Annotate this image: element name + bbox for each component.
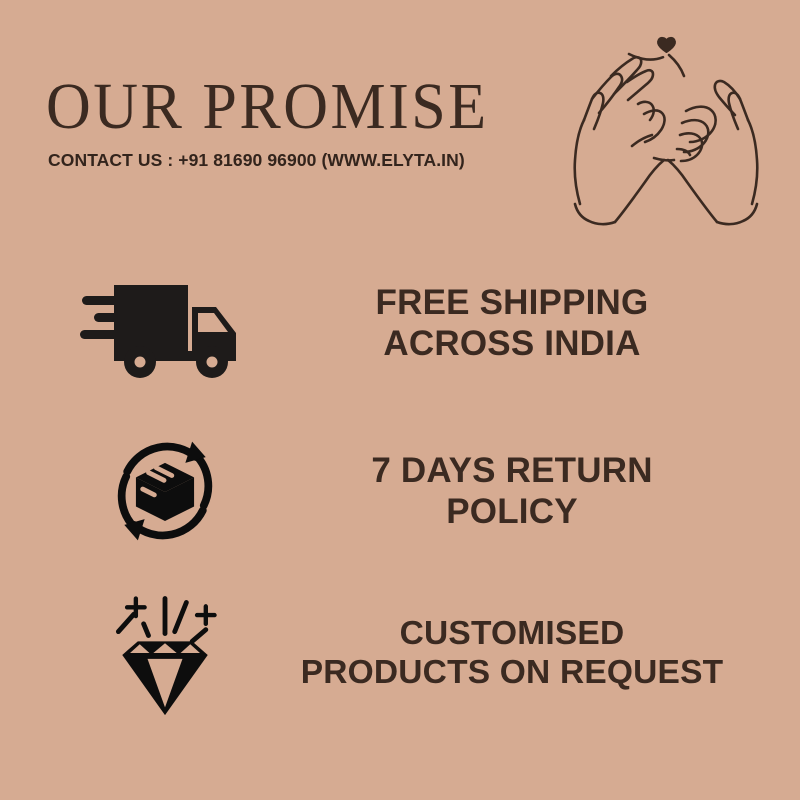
feature-label-line1: CUSTOMISED — [400, 615, 625, 652]
promise-feature-list: FREE SHIPPING ACROSS INDIA — [0, 240, 800, 800]
return-box-arrows-icon — [75, 416, 255, 566]
feature-row: CUSTOMISED PRODUCTS ON REQUEST — [0, 570, 800, 735]
feature-row: FREE SHIPPING ACROSS INDIA — [0, 240, 800, 405]
delivery-truck-icon — [75, 248, 255, 398]
header-text-block: OUR PROMISE CONTACT US : +91 81690 96900… — [46, 72, 546, 171]
promo-header: OUR PROMISE CONTACT US : +91 81690 96900… — [0, 0, 800, 240]
feature-label-line1: 7 DAYS RETURN — [371, 451, 652, 490]
feature-label: CUSTOMISED PRODUCTS ON REQUEST — [262, 614, 762, 692]
feature-label: FREE SHIPPING ACROSS INDIA — [262, 282, 762, 364]
sparkling-diamond-icon — [75, 578, 255, 728]
feature-label-line2: POLICY — [262, 491, 762, 532]
feature-label-line2: ACROSS INDIA — [262, 323, 762, 364]
feature-label: 7 DAYS RETURN POLICY — [262, 450, 762, 532]
feature-label-line1: FREE SHIPPING — [376, 283, 649, 322]
contact-info: CONTACT US : +91 81690 96900 (WWW.ELYTA.… — [48, 150, 546, 171]
our-promise-promo-card: OUR PROMISE CONTACT US : +91 81690 96900… — [0, 0, 800, 800]
feature-label-line2: PRODUCTS ON REQUEST — [262, 653, 762, 692]
pinky-promise-hands-icon — [532, 18, 800, 240]
page-title: OUR PROMISE — [46, 72, 546, 142]
feature-row: 7 DAYS RETURN POLICY — [0, 408, 800, 573]
